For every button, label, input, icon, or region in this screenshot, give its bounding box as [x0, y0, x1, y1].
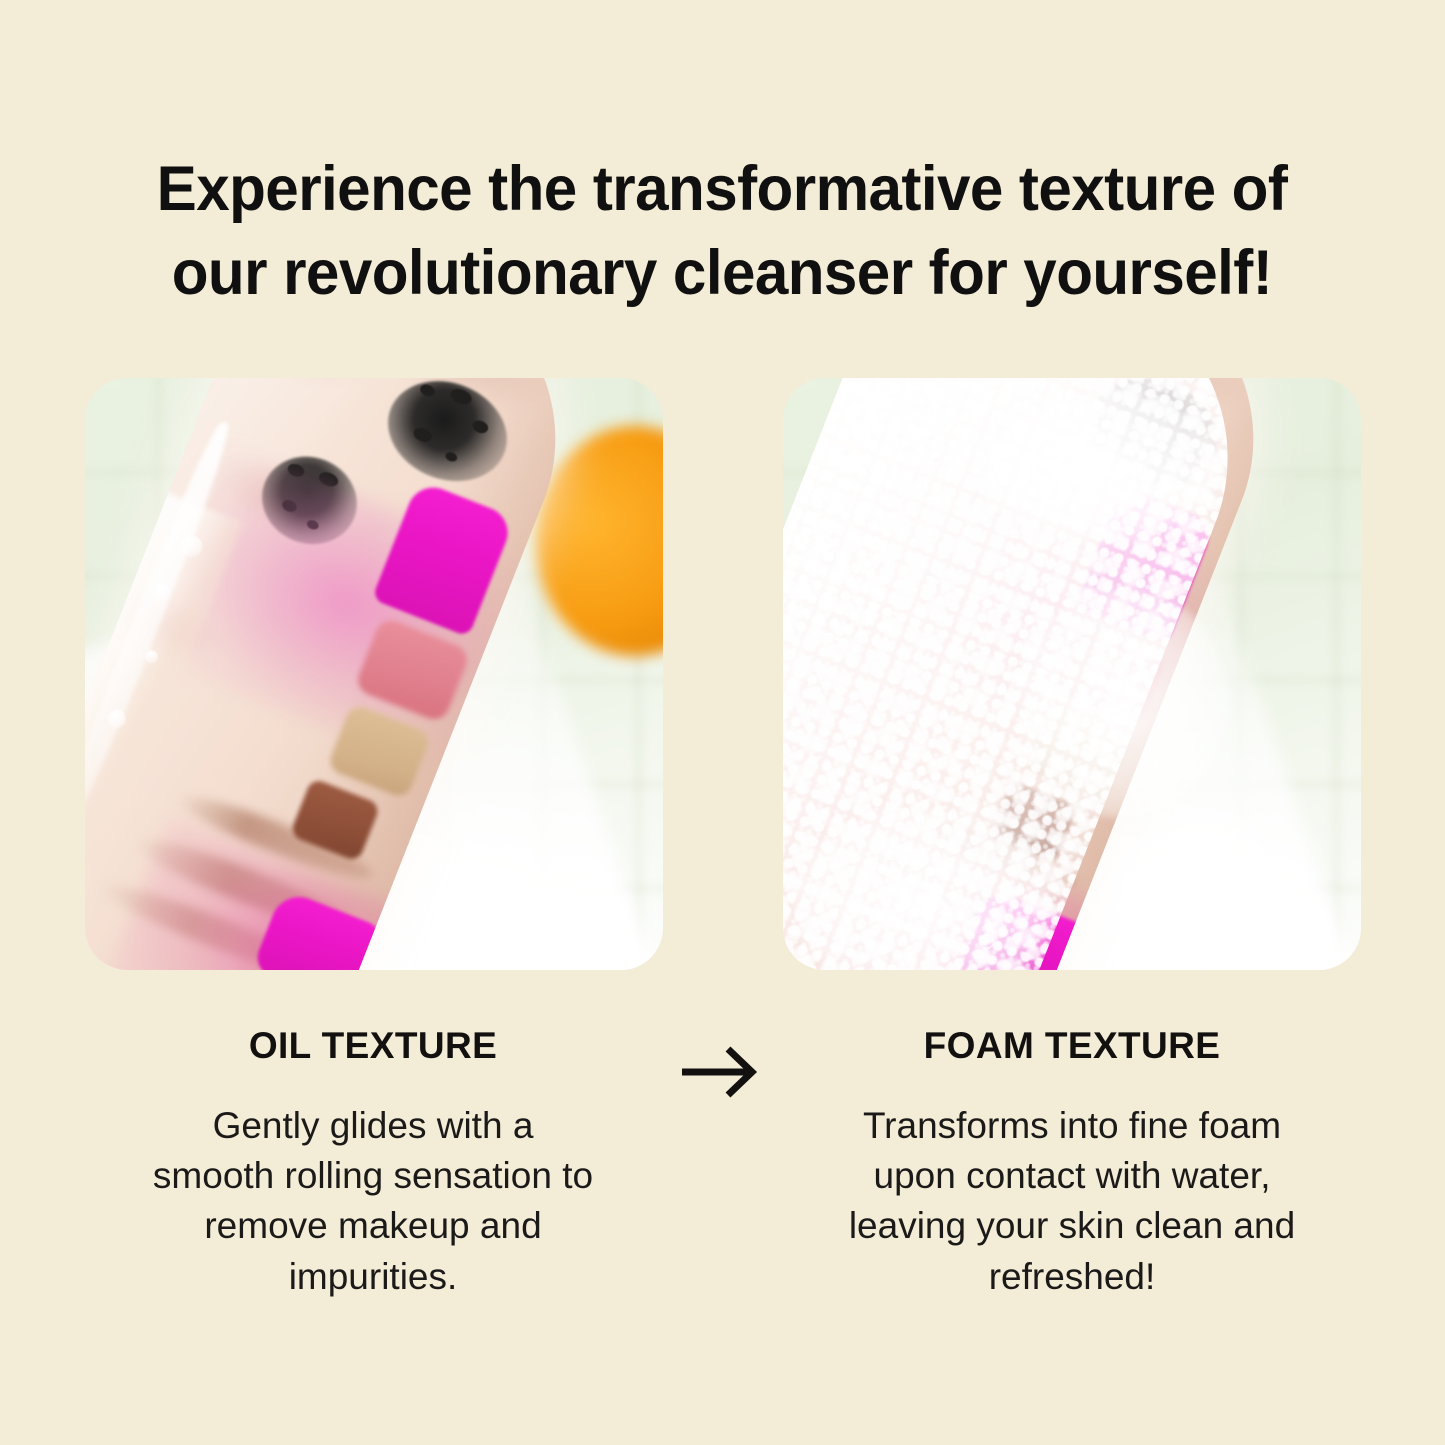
caption-body-line: refreshed!	[752, 1252, 1392, 1302]
foam-bubble	[1213, 898, 1224, 909]
headline-line-2: our revolutionary cleanser for yourself!	[101, 232, 1343, 316]
photo-foam-texture	[783, 378, 1361, 970]
foam-bubble	[1107, 678, 1123, 694]
caption-row: OIL TEXTURE Gently glides with a smooth …	[0, 1026, 1445, 1356]
caption-title-foam: FOAM TEXTURE	[752, 1026, 1392, 1067]
foam-bubble	[1069, 616, 1079, 626]
foam-bubble	[1035, 554, 1048, 567]
foam-bubble	[979, 934, 994, 949]
foam-bubble	[1187, 830, 1205, 848]
caption-body-line: smooth rolling sensation to	[53, 1151, 693, 1201]
infographic-page: Experience the transformative texture of…	[0, 0, 1445, 1445]
forearm	[85, 378, 606, 970]
caption-body-line: Gently glides with a	[53, 1101, 693, 1151]
caption-oil-texture: OIL TEXTURE Gently glides with a smooth …	[53, 1026, 693, 1302]
caption-body-line: Transforms into fine foam	[752, 1101, 1392, 1151]
caption-body-oil: Gently glides with a smooth rolling sens…	[53, 1101, 693, 1302]
forearm-group	[85, 378, 663, 970]
caption-title-oil: OIL TEXTURE	[53, 1026, 693, 1067]
caption-body-foam: Transforms into fine foam upon contact w…	[752, 1101, 1392, 1302]
photo-oil-texture	[85, 378, 663, 970]
foam-bubble	[933, 898, 943, 908]
caption-body-line: upon contact with water,	[752, 1151, 1392, 1201]
foam-edge-highlight	[1019, 588, 1229, 818]
foam-bubble	[887, 846, 901, 860]
caption-body-line: leaving your skin clean and	[752, 1201, 1392, 1251]
comparison-photo-row	[0, 378, 1445, 970]
foam-edge-highlight	[971, 392, 1221, 542]
caption-foam-texture: FOAM TEXTURE Transforms into fine foam u…	[752, 1026, 1392, 1302]
page-title: Experience the transformative texture of…	[101, 148, 1343, 316]
headline-line-1: Experience the transformative texture of	[101, 148, 1343, 232]
foam-bubble	[1151, 760, 1163, 772]
caption-body-line: remove makeup and	[53, 1201, 693, 1251]
caption-body-line: impurities.	[53, 1252, 693, 1302]
